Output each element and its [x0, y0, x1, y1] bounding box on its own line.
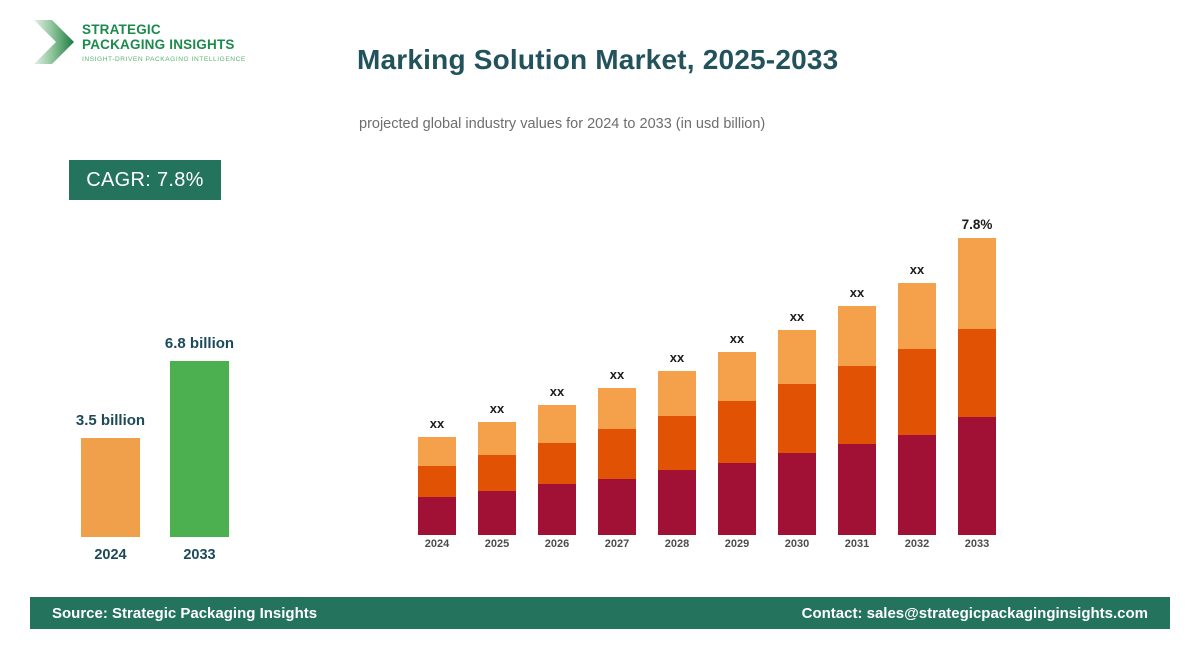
chevron-logo-icon — [30, 16, 76, 68]
stacked-bar-column: 7.8%2033 — [958, 238, 996, 535]
stacked-bar-segment-segment-middle — [598, 429, 636, 479]
stacked-bar-year-label: 2030 — [785, 538, 809, 550]
logo-tagline: INSIGHT-DRIVEN PACKAGING INTELLIGENCE — [82, 56, 246, 63]
stacked-bar-segment-segment-bottom — [778, 453, 816, 535]
stacked-bar-segment-segment-bottom — [538, 484, 576, 535]
stacked-bar-segment-segment-top — [538, 405, 576, 443]
stacked-bar-segment-segment-middle — [538, 443, 576, 484]
endpoint-bar-value-label: 3.5 billion — [76, 412, 145, 429]
stacked-bar-segment-segment-top — [598, 388, 636, 429]
stacked-bar-segment-segment-bottom — [478, 491, 516, 535]
stacked-bar-column: xx2029 — [718, 352, 756, 535]
stacked-bar-year-label: 2028 — [665, 538, 689, 550]
stacked-bar-annotation: xx — [430, 416, 444, 431]
cagr-label: CAGR: 7.8% — [86, 169, 203, 192]
stacked-bar-segment-segment-middle — [718, 401, 756, 463]
footer-source: Source: Strategic Packaging Insights — [52, 605, 317, 622]
stacked-bar-column: xx2028 — [658, 371, 696, 535]
stacked-bar-year-label: 2031 — [845, 538, 869, 550]
logo-line-1: STRATEGIC — [82, 22, 246, 37]
stacked-bar-segment-segment-bottom — [898, 435, 936, 535]
endpoint-bar-value-label: 6.8 billion — [165, 335, 234, 352]
logo-line-2: PACKAGING INSIGHTS — [82, 37, 246, 52]
endpoint-bar-column: 3.5 billion2024 — [81, 438, 140, 537]
stacked-bar-segment-segment-middle — [778, 384, 816, 453]
stacked-bar-column: xx2027 — [598, 388, 636, 535]
stacked-bar-column: xx2032 — [898, 283, 936, 535]
logo-wordmark: STRATEGIC PACKAGING INSIGHTS INSIGHT-DRI… — [82, 22, 246, 63]
stacked-bar-segment-segment-bottom — [718, 463, 756, 535]
page-title: Marking Solution Market, 2025-2033 — [357, 44, 838, 76]
stacked-bar-segment-segment-bottom — [418, 497, 456, 535]
stacked-bar-annotation: xx — [790, 309, 804, 324]
stacked-bar-segment-segment-bottom — [658, 470, 696, 535]
stacked-bar-column: xx2030 — [778, 330, 816, 535]
endpoint-bar — [170, 361, 229, 537]
yearly-stacked-bar-chart: xx2024xx2025xx2026xx2027xx2028xx2029xx20… — [412, 200, 1012, 556]
page-subtitle: projected global industry values for 202… — [359, 116, 765, 132]
stacked-bar-year-label: 2032 — [905, 538, 929, 550]
stacked-bar-segment-segment-top — [958, 238, 996, 329]
stacked-bar-segment-segment-top — [778, 330, 816, 384]
stacked-bar-segment-segment-bottom — [958, 417, 996, 535]
footer-bar: Source: Strategic Packaging Insights Con… — [30, 597, 1170, 629]
stacked-bar-segment-segment-top — [418, 437, 456, 466]
stacked-bar-segment-segment-middle — [418, 466, 456, 497]
stacked-bar-annotation: xx — [550, 384, 564, 399]
stacked-bar-segment-segment-middle — [478, 455, 516, 491]
endpoint-comparison-chart: 3.5 billion20246.8 billion2033 — [55, 300, 285, 570]
endpoint-bar-year-label: 2033 — [183, 547, 215, 563]
footer-contact: Contact: sales@strategicpackaginginsight… — [802, 605, 1148, 622]
stacked-bar-segment-segment-top — [838, 306, 876, 366]
stacked-bar-column: xx2024 — [418, 437, 456, 535]
stacked-bar-segment-segment-middle — [898, 349, 936, 435]
stacked-bar-column: xx2026 — [538, 405, 576, 535]
stacked-bar-year-label: 2024 — [425, 538, 449, 550]
stacked-bar-year-label: 2029 — [725, 538, 749, 550]
stacked-bar-segment-segment-top — [898, 283, 936, 349]
stacked-bar-column: xx2031 — [838, 306, 876, 535]
stacked-bar-segment-segment-middle — [958, 329, 996, 417]
stacked-bar-segment-segment-bottom — [838, 444, 876, 535]
endpoint-bar — [81, 438, 140, 537]
stacked-bar-year-label: 2033 — [965, 538, 989, 550]
stacked-bar-year-label: 2027 — [605, 538, 629, 550]
stacked-bar-annotation: xx — [850, 285, 864, 300]
stacked-bar-segment-segment-middle — [658, 416, 696, 470]
stacked-bar-segment-segment-top — [478, 422, 516, 455]
brand-logo: STRATEGIC PACKAGING INSIGHTS INSIGHT-DRI… — [30, 16, 246, 68]
endpoint-bar-column: 6.8 billion2033 — [170, 361, 229, 537]
stacked-bar-annotation: 7.8% — [962, 217, 993, 232]
stacked-bar-segment-segment-top — [718, 352, 756, 401]
stacked-bar-annotation: xx — [730, 331, 744, 346]
stacked-bar-column: xx2025 — [478, 422, 516, 535]
stacked-bar-year-label: 2026 — [545, 538, 569, 550]
stacked-bar-annotation: xx — [670, 350, 684, 365]
endpoint-bar-year-label: 2024 — [94, 547, 126, 563]
cagr-badge: CAGR: 7.8% — [69, 160, 221, 200]
stacked-bar-segment-segment-middle — [838, 366, 876, 444]
stacked-bar-year-label: 2025 — [485, 538, 509, 550]
stacked-bar-annotation: xx — [910, 262, 924, 277]
stacked-bar-segment-segment-top — [658, 371, 696, 416]
stacked-bar-annotation: xx — [610, 367, 624, 382]
stacked-bar-annotation: xx — [490, 401, 504, 416]
stacked-bar-segment-segment-bottom — [598, 479, 636, 535]
